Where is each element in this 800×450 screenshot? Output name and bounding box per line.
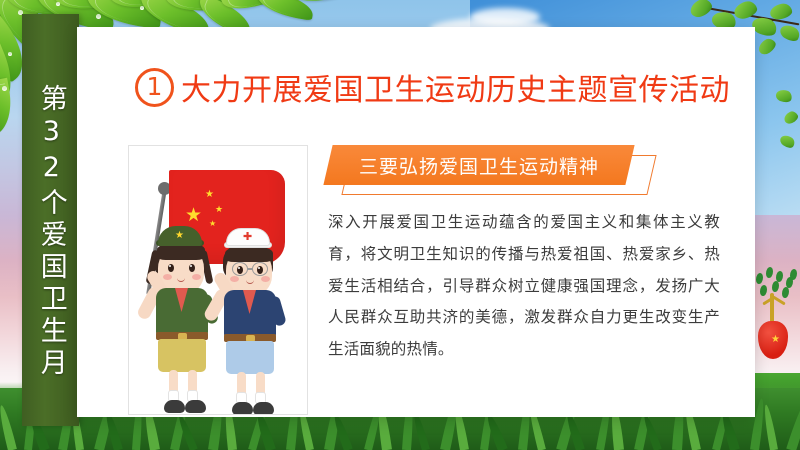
page-title: 大力开展爱国卫生运动历史主题宣传活动: [181, 65, 730, 109]
droplet-icon: [8, 52, 12, 56]
star-icon: ★: [175, 231, 184, 241]
flag-star-small: ★: [215, 206, 223, 215]
section-number-badge: 1: [135, 68, 174, 107]
flag-star-small: ★: [205, 190, 214, 200]
banner-label: 三要弘扬爱国卫生运动精神: [328, 145, 630, 185]
cloud-icon: [470, 8, 540, 26]
droplet-icon: [56, 2, 60, 6]
section-banner: 三要弘扬爱国卫生运动精神: [328, 145, 658, 197]
content-card: 1 大力开展爱国卫生运动历史主题宣传活动 ★ ★ ★ ★: [77, 27, 755, 417]
star-icon: ★: [771, 335, 780, 345]
page-title-row: 1 大力开展爱国卫生运动历史主题宣传活动: [135, 65, 730, 109]
flag-star-large: ★: [185, 206, 202, 225]
boy-shorts: [226, 341, 274, 374]
boy-character: ✚: [215, 226, 301, 415]
droplet-icon: [2, 86, 7, 91]
girl-shorts: [158, 339, 206, 372]
droplet-icon: [96, 14, 101, 19]
body-paragraph: 深入开展爱国卫生运动蕴含的爱国主义和集体主义教育，将文明卫生知识的传播与热爱祖国…: [328, 207, 720, 366]
red-cross-icon: ✚: [243, 231, 252, 242]
illustration-frame: ★ ★ ★ ★ ★: [128, 145, 308, 415]
droplet-icon: [140, 6, 144, 10]
sidebar-vertical-banner: 第32个爱国卫生月: [22, 14, 79, 426]
slide-root: ★: [0, 0, 800, 450]
sidebar-vertical-title: 第32个爱国卫生月: [36, 84, 65, 380]
